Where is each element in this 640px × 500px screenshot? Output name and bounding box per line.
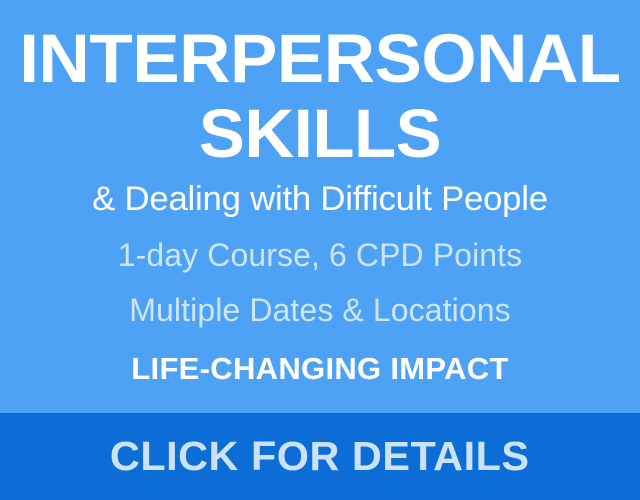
course-detail-dates-locations: Multiple Dates & Locations — [0, 273, 640, 328]
course-advert-banner: INTERPERSONAL SKILLS & Dealing with Diff… — [0, 0, 640, 500]
banner-impact-tagline: LIFE-CHANGING IMPACT — [0, 328, 640, 386]
headline-line-1: INTERPERSONAL — [0, 0, 640, 92]
banner-content: INTERPERSONAL SKILLS & Dealing with Diff… — [0, 0, 640, 413]
course-detail-duration-cpd: 1-day Course, 6 CPD Points — [0, 218, 640, 273]
cta-label: CLICK FOR DETAILS — [110, 436, 530, 477]
banner-subheadline: & Dealing with Difficult People — [0, 167, 640, 218]
click-for-details-button[interactable]: CLICK FOR DETAILS — [0, 413, 640, 500]
headline-line-2: SKILLS — [0, 92, 640, 167]
